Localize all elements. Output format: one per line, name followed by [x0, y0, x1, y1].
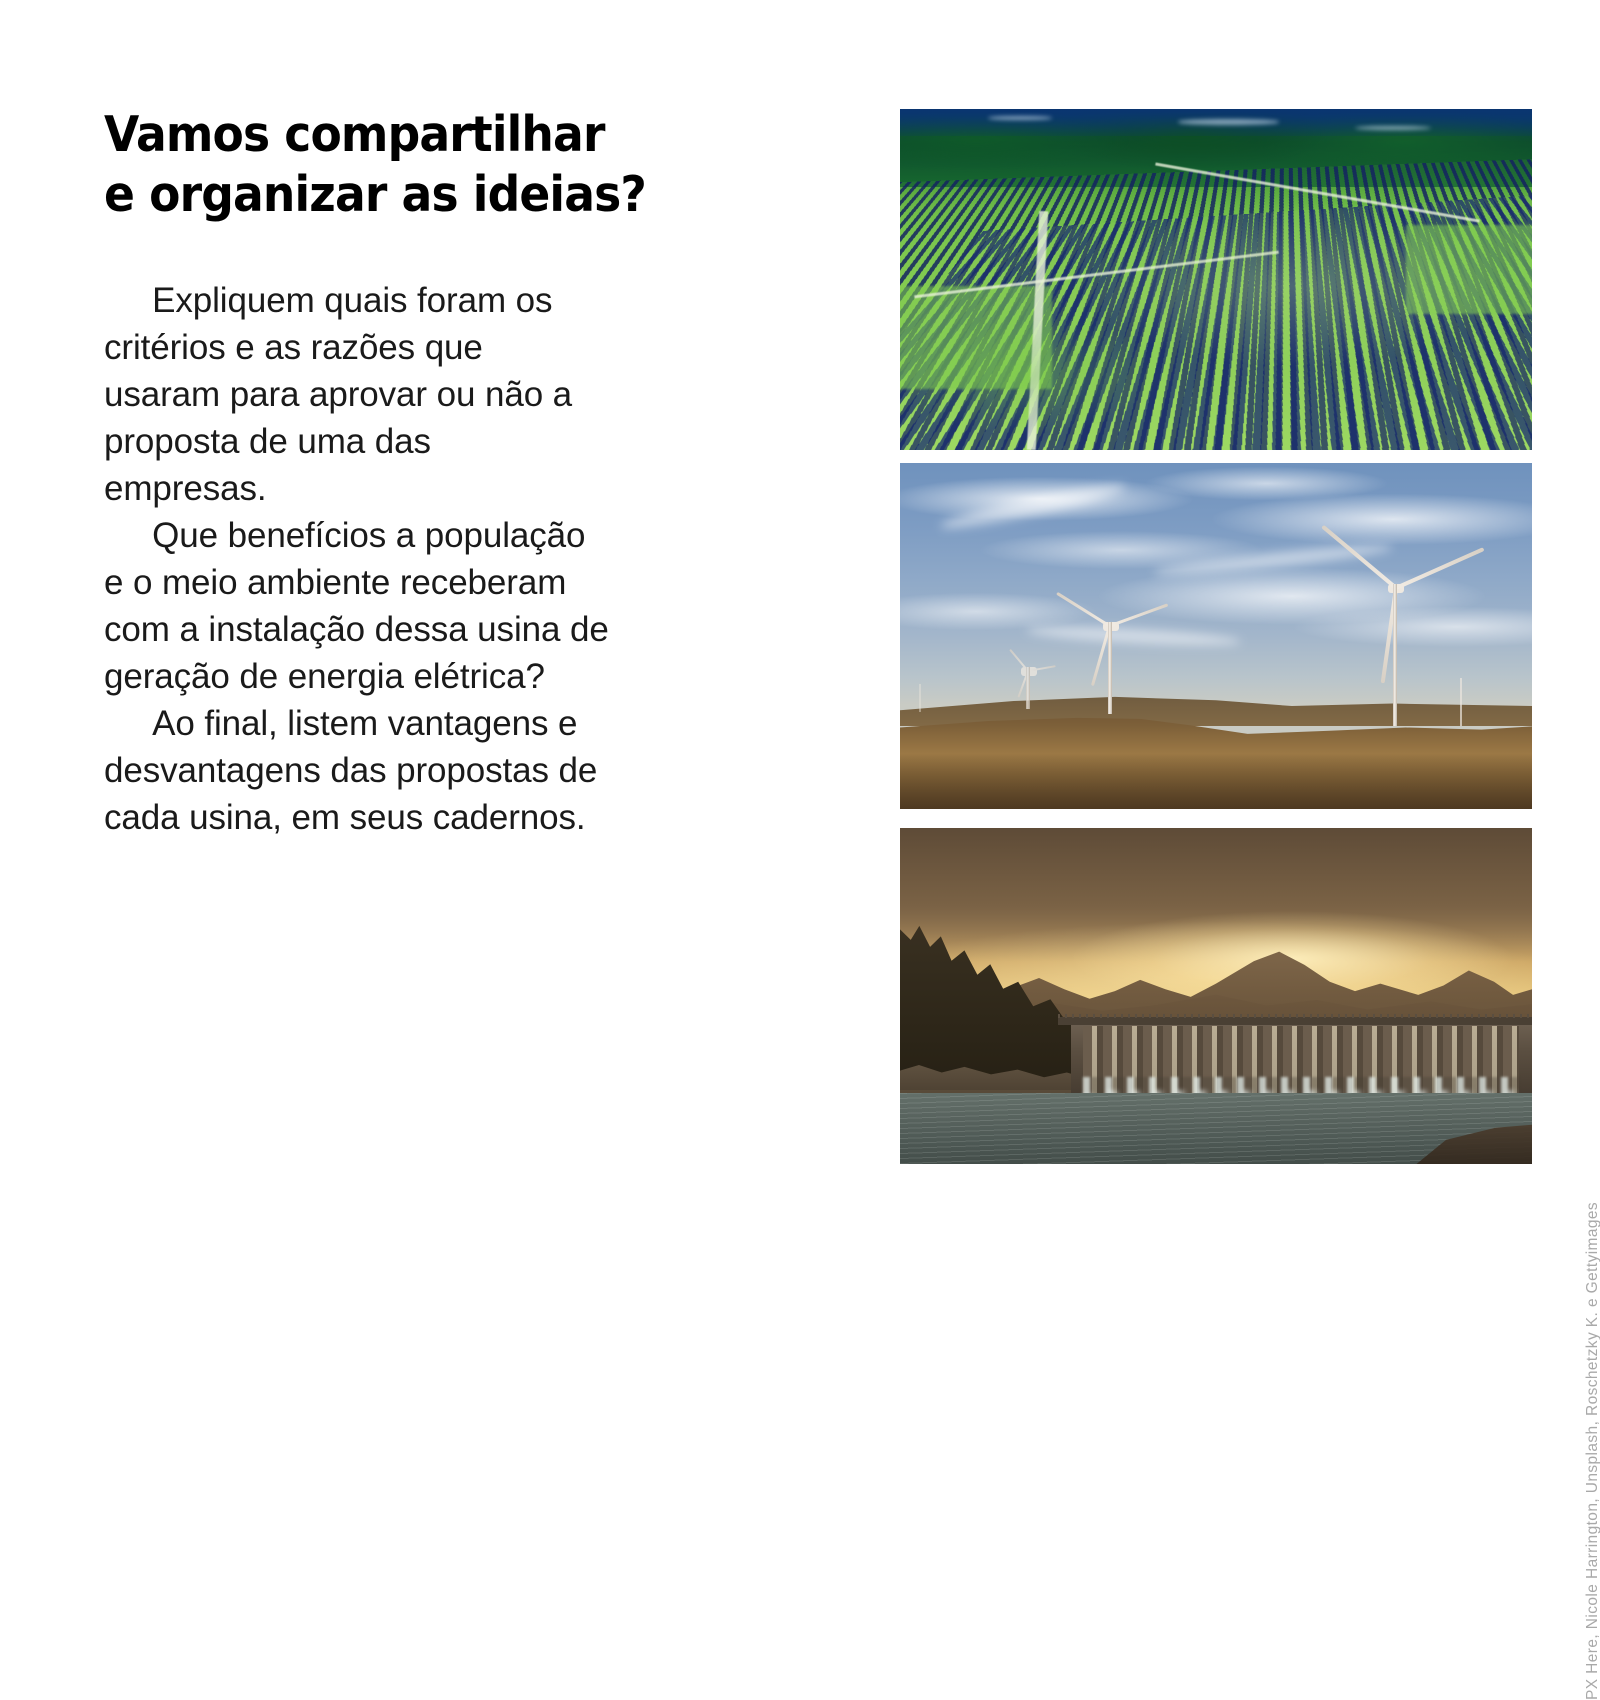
turbine-mast [1393, 584, 1397, 726]
image-solar-power-plant: Aerial view of a large solar panel farm … [900, 109, 1532, 450]
dam-railing [1058, 1014, 1532, 1018]
body-paragraph-2: Que benefícios a população e o meio ambi… [104, 512, 744, 700]
turbine-mast [1026, 667, 1030, 709]
utility-pole [919, 684, 921, 712]
slide-canvas: Vamos compartilhar e organizar as ideias… [0, 0, 1600, 1200]
cloud-layer [900, 463, 1532, 719]
image-credit: PX Here, Nicole Harrington, Unsplash, Ro… [1584, 1140, 1600, 1700]
solar-farm-illustration [900, 109, 1532, 450]
page-title: Vamos compartilhar e organizar as ideias… [104, 105, 699, 225]
dam-illustration [900, 828, 1532, 1164]
utility-pole [1460, 678, 1462, 726]
image-wind-power-plant: Wind turbines on a dry brown ridge under… [900, 463, 1532, 809]
ridge-shadow [900, 754, 1532, 809]
wind-turbine-icon [1375, 584, 1415, 726]
dam-deck [1058, 1017, 1532, 1024]
body-paragraph-3: Ao final, listem vantagens e desvantagen… [104, 700, 744, 841]
light-sheen [900, 109, 1532, 450]
body-paragraph-1: Expliquem quais foram os critérios e as … [104, 277, 744, 512]
text-column: Vamos compartilhar e organizar as ideias… [104, 105, 744, 841]
image-hydroelectric-power-plant: Hydroelectric dam spilling water at suns… [900, 828, 1532, 1164]
wind-turbine-icon [1096, 622, 1124, 714]
wind-turbine-icon [1020, 667, 1036, 709]
turbine-mast [1108, 622, 1112, 714]
wind-farm-illustration [900, 463, 1532, 809]
